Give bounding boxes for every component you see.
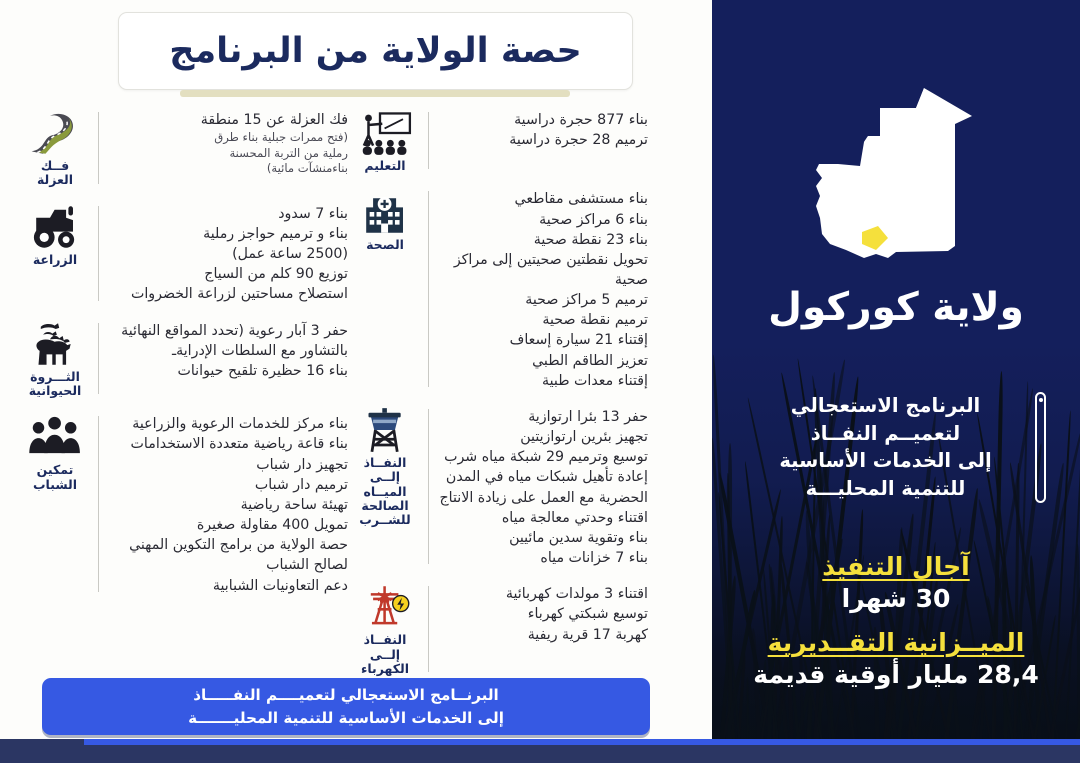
page-title-card: حصة الولاية من البرنامج (118, 12, 633, 90)
section-divider (98, 206, 99, 301)
section-icon-wrap-youth: تمكين الشباب (18, 412, 92, 492)
list-item: دعم التعاونيات الشبابية (107, 576, 348, 596)
program-name: البرنامج الاستعجالي لتعميــم النفــاذ إل… (746, 392, 1025, 503)
section-label-education: التعليم (364, 159, 405, 173)
list-item: بناء 7 خزانات مياه (437, 548, 648, 568)
list-item: بناء قاعة رياضية متعددة الاستخدامات (107, 434, 348, 454)
section-water: النفــاذ إلــى الميــاه الصالحة للشــربح… (348, 405, 648, 568)
section-divider (98, 323, 99, 395)
program-accent-bar (1035, 392, 1046, 503)
list-item: بناء 6 مراكز صحية (437, 210, 648, 230)
list-item: ترميم 28 حجرة دراسية (437, 130, 648, 150)
list-item: تجهيز بئرين ارتوازيتين (437, 427, 648, 447)
section-items-isolation: فك العزلة عن 15 منطقة(فتح ممرات جبلية بن… (107, 108, 348, 177)
power-pylon-icon (357, 584, 412, 630)
section-items-agriculture: بناء 7 سدودبناء و ترميم حواجز رملية(2500… (107, 202, 348, 305)
list-item: ترميم 5 مراكز صحية (437, 290, 648, 310)
list-item: كهربة 17 قرية ريفية (437, 625, 648, 645)
list-item: بناء مركز للخدمات الرعوية والزراعية (107, 414, 348, 434)
section-divider (428, 586, 429, 672)
column-infrastructure: فــك العزلةفك العزلة عن 15 منطقة(فتح ممر… (18, 108, 348, 610)
section-divider (428, 409, 429, 564)
list-item: ترميم نقطة صحية (437, 310, 648, 330)
list-item: تمويل 400 مقاولة صغيرة (107, 515, 348, 535)
list-item: ترميم دار شباب (107, 475, 348, 495)
section-items-livestock: حفر 3 آبار رعوية (تحدد المواقع النهائية … (107, 319, 348, 381)
section-divider (98, 112, 99, 184)
section-divider (428, 191, 429, 387)
section-label-water: النفــاذ إلــى الميــاه الصالحة للشــرب (359, 456, 410, 528)
tractor-icon (27, 204, 82, 250)
section-divider (428, 112, 429, 169)
section-label-agriculture: الزراعة (33, 253, 77, 267)
section-items-health: بناء مستشفى مقاطعيبناء 6 مراكز صحيةبناء … (437, 187, 648, 391)
section-icon-wrap-health: الصحة (348, 187, 422, 252)
list-item: توسيع شبكتي كهرباء (437, 604, 648, 624)
list-item: بناء 23 نقطة صحية (437, 230, 648, 250)
section-items-electricity: اقتناء 3 مولدات كهربائيةتوسيع شبكتي كهرب… (437, 582, 648, 644)
page-title: حصة الولاية من البرنامج (169, 31, 582, 71)
wilaya-name: ولاية كوركول (712, 285, 1080, 330)
bottom-strip (0, 739, 1080, 763)
timeline-block: آجال التنفيذ 30 شهرا (712, 552, 1080, 613)
section-icon-wrap-isolation: فــك العزلة (18, 108, 92, 188)
camel-livestock-icon (27, 321, 82, 367)
list-item: بناء 16 حظيرة تلقيح حيوانات (107, 361, 348, 381)
column-services: التعليمبناء 877 حجرة دراسيةترميم 28 حجرة… (348, 108, 648, 690)
section-isolation: فــك العزلةفك العزلة عن 15 منطقة(فتح ممر… (18, 108, 348, 188)
list-item: حصة الولاية من برامج التكوين المهني لصال… (107, 535, 348, 575)
people-group-icon (27, 414, 82, 460)
section-label-livestock: الثـــروة الحيوانية (29, 370, 82, 399)
section-divider (98, 416, 99, 591)
section-label-health: الصحة (366, 238, 404, 252)
content-panel: حصة الولاية من البرنامج التعليمبناء 877 … (0, 0, 710, 763)
section-items-youth: بناء مركز للخدمات الرعوية والزراعيةبناء … (107, 412, 348, 595)
section-label-youth: تمكين الشباب (33, 463, 77, 492)
section-label-electricity: النفــاذ إلــى الكهرباء (361, 633, 409, 676)
budget-block: الميــزانية التقــديرية 28,4 مليار أوقية… (712, 628, 1080, 689)
list-item: بناءمنشآت مائية) (107, 161, 348, 177)
list-item: اقتناء 3 مولدات كهربائية (437, 584, 648, 604)
budget-value: 28,4 مليار أوقية قديمة (712, 660, 1080, 689)
hero-overlay: ولاية كوركول البرنامج الاستعجالي لتعميــ… (712, 0, 1080, 763)
list-item: بناء 877 حجرة دراسية (437, 110, 648, 130)
section-icon-wrap-agriculture: الزراعة (18, 202, 92, 267)
list-item: تجهيز دار شباب (107, 455, 348, 475)
section-education: التعليمبناء 877 حجرة دراسيةترميم 28 حجرة… (348, 108, 648, 173)
list-item: اقتناء وحدتي معالجة مياه (437, 508, 648, 528)
winding-road-icon (27, 110, 82, 156)
list-item: توزيع 90 كلم من السياج (107, 264, 348, 284)
section-items-water: حفر 13 بئرا ارتوازيةتجهيز بئرين ارتوازيت… (437, 405, 648, 568)
timeline-heading: آجال التنفيذ (712, 552, 1080, 581)
list-item: بناء 7 سدود (107, 204, 348, 224)
list-item: تعزيز الطاقم الطبي (437, 351, 648, 371)
list-item: حفر 13 بئرا ارتوازية (437, 407, 648, 427)
teacher-blackboard-icon (357, 110, 412, 156)
bottom-strip-accent (84, 739, 1080, 745)
section-items-education: بناء 877 حجرة دراسيةترميم 28 حجرة دراسية (437, 108, 648, 150)
program-name-block: البرنامج الاستعجالي لتعميــم النفــاذ إل… (746, 392, 1046, 503)
list-item: فك العزلة عن 15 منطقة (107, 110, 348, 130)
section-health: الصحةبناء مستشفى مقاطعيبناء 6 مراكز صحية… (348, 187, 648, 391)
title-underline (180, 90, 570, 97)
water-tower-icon (357, 407, 412, 453)
section-icon-wrap-electricity: النفــاذ إلــى الكهرباء (348, 582, 422, 676)
section-icon-wrap-water: النفــاذ إلــى الميــاه الصالحة للشــرب (348, 405, 422, 528)
section-icon-wrap-livestock: الثـــروة الحيوانية (18, 319, 92, 399)
section-youth: تمكين الشباببناء مركز للخدمات الرعوية وا… (18, 412, 348, 595)
hero-panel: ولاية كوركول البرنامج الاستعجالي لتعميــ… (712, 0, 1080, 763)
budget-heading: الميــزانية التقــديرية (712, 628, 1080, 657)
list-item: بناء مستشفى مقاطعي (437, 189, 648, 209)
program-footer-banner: البرنــامج الاستعجالي لتعميــــم النفـــ… (42, 678, 650, 735)
list-item: (فتح ممرات جبلية بناء طرق (107, 130, 348, 146)
mauritania-map-icon (776, 86, 1016, 276)
timeline-value: 30 شهرا (712, 584, 1080, 613)
list-item: بناء وتقوية سدين مائيين (437, 528, 648, 548)
list-item: إقتناء 21 سيارة إسعاف (437, 330, 648, 350)
list-item: إقتناء معدات طبية (437, 371, 648, 391)
section-agriculture: الزراعةبناء 7 سدودبناء و ترميم حواجز رمل… (18, 202, 348, 305)
section-label-isolation: فــك العزلة (37, 159, 73, 188)
list-item: بناء و ترميم حواجز رملية (107, 224, 348, 244)
list-item: تهيئة ساحة رياضية (107, 495, 348, 515)
section-electricity: النفــاذ إلــى الكهرباءاقتناء 3 مولدات ك… (348, 582, 648, 676)
section-livestock: الثـــروة الحيوانيةحفر 3 آبار رعوية (تحد… (18, 319, 348, 399)
list-item: رملية من التربة المحسنة (107, 146, 348, 162)
list-item: إعادة تأهيل شبكات مياه في المدن الحضرية … (437, 467, 648, 507)
list-item: حفر 3 آبار رعوية (تحدد المواقع النهائية … (107, 321, 348, 361)
list-item: توسيع وترميم 29 شبكة مياه شرب (437, 447, 648, 467)
list-item: (2500 ساعة عمل) (107, 244, 348, 264)
program-footer-text: البرنــامج الاستعجالي لتعميــــم النفـــ… (188, 684, 504, 728)
section-icon-wrap-education: التعليم (348, 108, 422, 173)
list-item: استصلاح مساحتين لزراعة الخضروات (107, 284, 348, 304)
hospital-icon (357, 189, 412, 235)
infographic-poster: حصة الولاية من البرنامج التعليمبناء 877 … (0, 0, 1080, 763)
list-item: تحويل نقطتين صحيتين إلى مراكز صحية (437, 250, 648, 290)
